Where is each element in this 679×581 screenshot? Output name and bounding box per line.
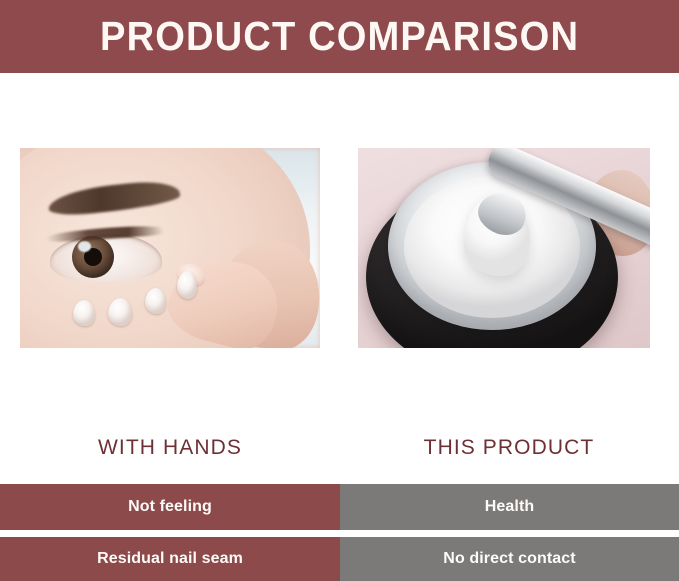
comparison-cell-with-hands: Not feeling [0,484,340,530]
cream-dot [145,288,166,314]
column-header-this-product: THIS PRODUCT [339,436,679,460]
page-title: PRODUCT COMPARISON [100,16,579,57]
cream-jar-with-spatula-image [358,148,650,348]
jar-scene [358,148,650,348]
comparison-cell-this-product: No direct contact [340,537,679,581]
comparison-cell-with-hands: Residual nail seam [0,537,340,581]
column-labels: WITH HANDS THIS PRODUCT [0,436,679,476]
cream-dot [177,271,197,299]
column-header-with-hands: WITH HANDS [0,436,340,460]
comparison-row: Not feeling Health [0,484,679,530]
cream-dot [108,298,132,326]
header-banner: PRODUCT COMPARISON [0,0,679,73]
applying-eye-cream-with-fingers-image [20,148,320,348]
cream-dot [73,300,95,326]
eye-glint [78,241,91,252]
face-scene [20,148,320,348]
comparison-row: Residual nail seam No direct contact [0,537,679,581]
comparison-cell-this-product: Health [340,484,679,530]
photo-row [0,148,679,348]
